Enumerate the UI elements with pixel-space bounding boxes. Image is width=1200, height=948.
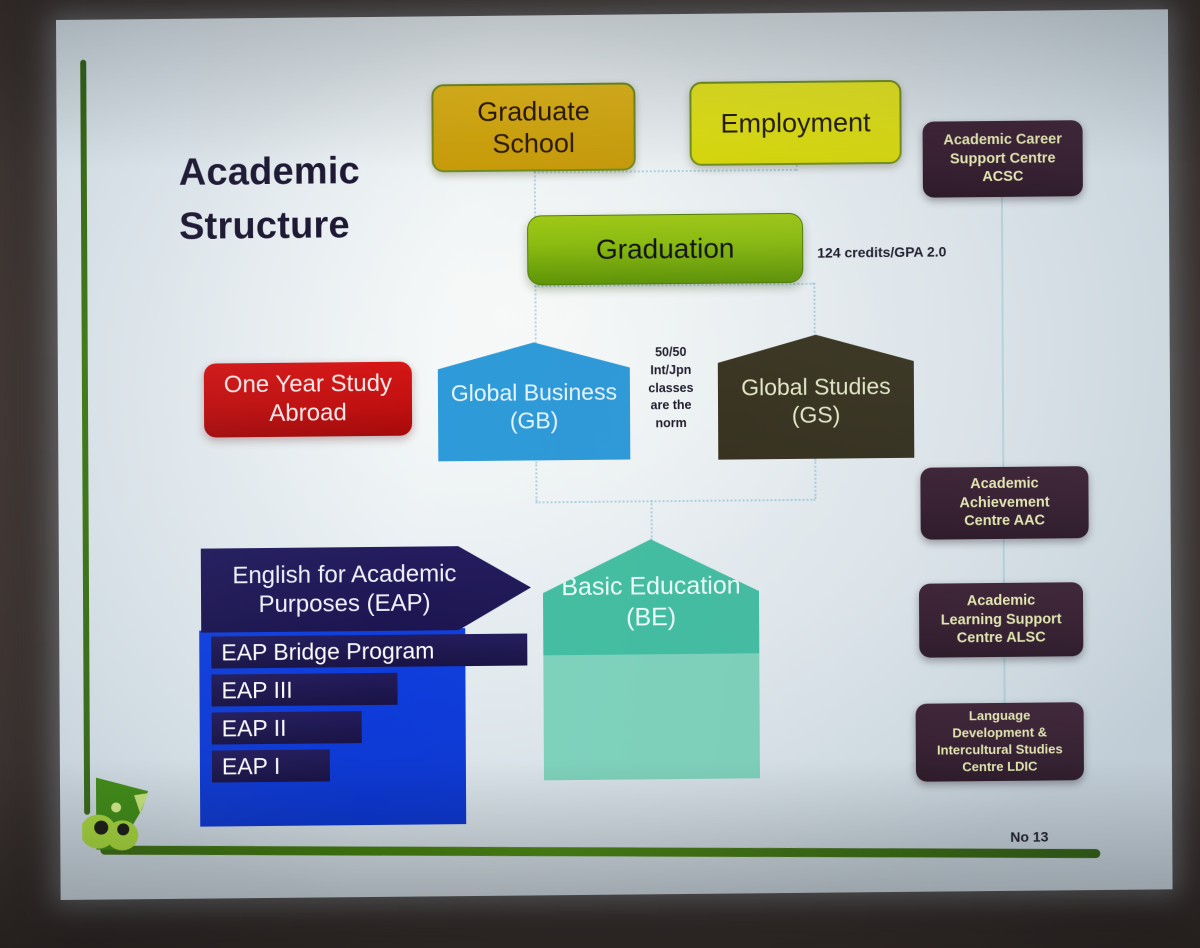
support-centre-aac[interactable]: Academic Achievement Centre AAC	[920, 466, 1088, 540]
support-centre-alsc-label: Academic Learning Support Centre ALSC	[941, 591, 1062, 649]
eap-banner-arrow[interactable]: English for Academic Purposes (EAP)	[201, 545, 531, 632]
bottom-green-rule	[100, 846, 1100, 858]
program-box-global-studies[interactable]: Global Studies (GS)	[718, 334, 915, 460]
program-label-global-studies: Global Studies (GS)	[718, 334, 914, 430]
eap-level-one[interactable]: EAP I	[212, 749, 330, 782]
left-green-rule	[80, 60, 90, 815]
fox-mascot-logo	[82, 769, 168, 858]
alsc-line-3: Centre ALSC	[957, 630, 1046, 647]
program-label-study-abroad: One Year Study Abroad	[204, 370, 412, 430]
ldic-line-4: Centre LDIC	[962, 759, 1037, 775]
class-mix-line-4: are the	[640, 397, 702, 415]
class-mix-line-1: 50/50	[640, 344, 702, 362]
ldic-line-1: Language	[969, 708, 1030, 724]
acsc-line-2: Support Centre	[950, 150, 1056, 167]
slide-page-number: No 13	[1010, 829, 1048, 845]
basic-education-line-1: Basic Education	[561, 571, 740, 601]
page-title-line-1: Academic	[179, 145, 360, 201]
eap-level-three[interactable]: EAP III	[211, 673, 397, 707]
connector-gb-to-graduation	[534, 285, 536, 343]
support-centre-aac-label: Academic Achievement Centre AAC	[959, 474, 1050, 531]
aac-line-3: Centre AAC	[964, 513, 1045, 530]
class-mix-line-5: norm	[640, 415, 702, 433]
aac-line-1: Academic	[970, 475, 1039, 492]
slide-surface: Academic Structure Graduate School Emplo…	[56, 9, 1173, 900]
connector-employment-down	[796, 165, 798, 171]
connector-be-up	[651, 500, 653, 540]
connector-horizontal-bottom	[536, 499, 816, 504]
basic-education-lower-band	[543, 653, 760, 780]
page-title-line-2: Structure	[179, 199, 360, 255]
program-box-global-business[interactable]: Global Business (GB)	[438, 342, 631, 462]
foundation-label-basic-education: Basic Education (BE)	[561, 538, 741, 633]
eap-banner-line-1: English for Academic	[232, 560, 456, 589]
support-centre-ldic[interactable]: Language Development & Intercultural Stu…	[916, 702, 1084, 782]
ldic-line-3: Intercultural Studies	[937, 741, 1063, 757]
acsc-line-1: Academic Career	[943, 131, 1062, 148]
connector-graduation-to-gradschool	[534, 171, 536, 217]
support-centre-acsc-label: Academic Career Support Centre ACSC	[943, 130, 1062, 188]
support-centre-acsc[interactable]: Academic Career Support Centre ACSC	[923, 120, 1083, 198]
eap-levels-panel: EAP Bridge Program EAP III EAP II EAP I	[199, 628, 466, 827]
basic-education-line-2: (BE)	[626, 603, 676, 631]
projection-room-backdrop: Academic Structure Graduate School Emplo…	[0, 0, 1200, 948]
connector-gs-to-graduation	[813, 283, 815, 337]
graduation-label: Graduation	[596, 232, 735, 267]
outcome-box-graduate-school[interactable]: Graduate School	[431, 82, 635, 172]
support-centre-ldic-label: Language Development & Intercultural Stu…	[937, 708, 1063, 777]
outcome-label-employment: Employment	[720, 106, 870, 140]
program-label-global-business: Global Business (GB)	[438, 342, 630, 436]
support-centre-alsc[interactable]: Academic Learning Support Centre ALSC	[919, 582, 1083, 658]
class-mix-line-2: Int/Jpn	[640, 362, 702, 380]
eap-level-two[interactable]: EAP II	[212, 711, 362, 744]
aac-line-2: Achievement	[959, 494, 1049, 511]
class-mix-line-3: classes	[640, 379, 702, 397]
graduation-box[interactable]: Graduation	[527, 213, 803, 286]
outcome-box-employment[interactable]: Employment	[689, 80, 901, 166]
page-title: Academic Structure	[179, 145, 361, 255]
acsc-line-3: ACSC	[982, 169, 1023, 185]
class-mix-note: 50/50 Int/Jpn classes are the norm	[640, 344, 702, 433]
eap-banner-line-2: Purposes (EAP)	[258, 589, 430, 618]
eap-level-bridge-program[interactable]: EAP Bridge Program	[211, 634, 527, 669]
foundation-box-basic-education[interactable]: Basic Education (BE)	[543, 538, 760, 780]
program-box-study-abroad[interactable]: One Year Study Abroad	[204, 362, 412, 438]
eap-banner-label: English for Academic Purposes (EAP)	[217, 559, 472, 620]
alsc-line-2: Learning Support	[941, 611, 1062, 628]
connector-be-to-gb	[535, 461, 537, 501]
projected-slide: Academic Structure Graduate School Emplo…	[56, 9, 1173, 900]
alsc-line-1: Academic	[967, 592, 1036, 609]
connector-gs-down	[814, 459, 816, 499]
graduation-requirement-note: 124 credits/GPA 2.0	[817, 243, 946, 260]
ldic-line-2: Development &	[952, 725, 1047, 741]
outcome-label-graduate-school: Graduate School	[433, 94, 633, 161]
